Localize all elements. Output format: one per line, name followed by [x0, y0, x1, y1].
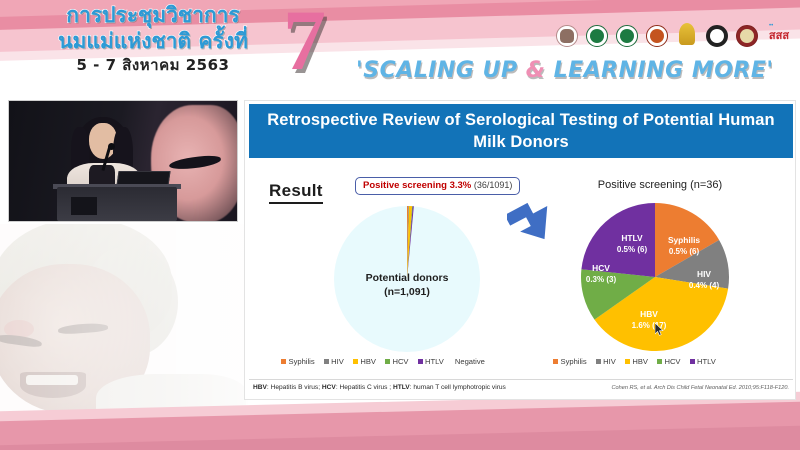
legend-label-hiv: HIV: [603, 357, 616, 366]
flow-arrow: [507, 197, 565, 251]
legend-item-hiv: HIV: [324, 357, 344, 366]
slide-video-frame: การประชุมวิชาการ นมแม่แห่งชาติ ครั้งที่ …: [0, 0, 800, 450]
presentation-slide: Retrospective Review of Serological Test…: [244, 100, 796, 400]
footnote-hcv-val: : Hepatitis C virus ;: [336, 384, 393, 391]
label-syphilis-line2: 0.5% (6): [669, 247, 700, 256]
potential-donors-center-label: Potential donors (n=1,091): [341, 271, 473, 299]
tagline-part-2: LEARNING MORE': [545, 58, 773, 83]
label-hiv-line2: 0.4% (4): [689, 281, 720, 290]
result-heading: Result: [269, 181, 323, 204]
label-hbv-line1: HBV: [640, 309, 658, 319]
legend-item-htlv: HTLV: [418, 357, 444, 366]
conference-title-line-1: การประชุมวิชาการ: [18, 2, 288, 28]
footnote-hcv-key: HCV: [322, 384, 336, 391]
podium-plaque: [71, 197, 97, 215]
label-htlv-line1: HTLV: [621, 233, 643, 243]
legend-label-syphilis: Syphilis: [289, 357, 315, 366]
legend-label-hbv: HBV: [632, 357, 648, 366]
legend-label-negative: Negative: [455, 357, 485, 366]
slide-footnote: HBV: Hepatitis B virus; HCV: Hepatitis C…: [249, 379, 793, 395]
legend-label-hiv: HIV: [331, 357, 344, 366]
label-hcv-line2: 0.3% (3): [586, 275, 617, 284]
royal-thai-crest-logo: [734, 24, 760, 54]
conference-tagline: 'SCALING UP & LEARNING MORE': [356, 58, 774, 83]
legend-item-hiv: HIV: [596, 357, 616, 366]
conference-thai-title: การประชุมวิชาการ นมแม่แห่งชาติ ครั้งที่ …: [18, 2, 288, 76]
royal-garuda-crest-logo: [674, 24, 700, 54]
thaihealth-sss-logo: ••สสส: [764, 24, 794, 54]
label-hiv-line1: HIV: [697, 269, 711, 279]
positive-screening-callout: Positive screening 3.3% (36/1091): [355, 177, 520, 195]
label-syphilis-line1: Syphilis: [668, 235, 700, 245]
legend-item-syphilis: Syphilis: [553, 357, 587, 366]
legend-label-hbv: HBV: [360, 357, 376, 366]
microphone-head: [108, 143, 115, 150]
citation: Cohen RS, et al. Arch Dis Child Fetal Ne…: [611, 385, 789, 391]
speaker-at-podium-video[interactable]: [8, 100, 238, 222]
footnote-hbv-val: : Hepatitis B virus;: [267, 384, 322, 391]
positive-screening-legend: Syphilis HIV HBV HCV HTLV: [553, 357, 716, 366]
potential-donors-label-line2: (n=1,091): [341, 285, 473, 299]
legend-item-hbv: HBV: [353, 357, 376, 366]
conference-header-banner: การประชุมวิชาการ นมแม่แห่งชาติ ครั้งที่ …: [0, 0, 800, 96]
conference-edition-number: 7: [283, 0, 326, 88]
footnote-hbv-key: HBV: [253, 384, 267, 391]
ministry-of-public-health-logo: [704, 24, 730, 54]
sponsor-logo-row: ••สสส: [554, 24, 794, 54]
legend-label-hcv: HCV: [664, 357, 680, 366]
tagline-ampersand: &: [526, 58, 546, 83]
legend-label-hcv: HCV: [392, 357, 408, 366]
conference-title-line-2: นมแม่แห่งชาติ ครั้งที่: [18, 28, 288, 54]
footnote-htlv-key: HTLV: [393, 384, 410, 391]
abbreviation-note: HBV: Hepatitis B virus; HCV: Hepatitis C…: [253, 384, 506, 391]
potential-donors-label-line1: Potential donors: [341, 271, 473, 285]
legend-item-hcv: HCV: [385, 357, 409, 366]
legend-label-htlv: HTLV: [697, 357, 716, 366]
legend-item-syphilis: Syphilis: [281, 357, 315, 366]
footnote-htlv-val: : human T cell lymphotropic virus: [410, 384, 506, 391]
positive-screening-heading: Positive screening (n=36): [555, 179, 765, 191]
legend-item-hbv: HBV: [625, 357, 648, 366]
potential-donors-pie: Potential donors (n=1,091): [333, 205, 481, 353]
royal-college-logo: [644, 24, 670, 54]
legend-item-htlv: HTLV: [690, 357, 716, 366]
legend-item-negative: Negative: [455, 357, 485, 366]
conference-dates: 5 - 7 สิงหาคม 2563: [18, 54, 288, 76]
legend-label-htlv: HTLV: [425, 357, 444, 366]
label-hcv-line1: HCV: [592, 263, 610, 273]
cursor-arrow-icon: [655, 323, 664, 336]
legend-label-syphilis: Syphilis: [561, 357, 587, 366]
princess-emblem-logo: [554, 24, 580, 54]
flow-arrow-icon: [507, 197, 565, 251]
tagline-part-1: 'SCALING UP: [356, 58, 526, 83]
callout-highlight: Positive screening 3.3%: [363, 180, 471, 191]
label-htlv-line2: 0.5% (6): [617, 245, 648, 254]
callout-fraction: (36/1091): [474, 180, 513, 190]
thai-pediatric-society-logo: [584, 24, 610, 54]
slide-title: Retrospective Review of Serological Test…: [249, 104, 793, 158]
legend-item-hcv: HCV: [657, 357, 681, 366]
potential-donors-legend: Syphilis HIV HBV HCV HTLV Negative: [281, 357, 485, 366]
thai-breastfeeding-center-logo: [614, 24, 640, 54]
mouse-cursor: [655, 323, 664, 336]
